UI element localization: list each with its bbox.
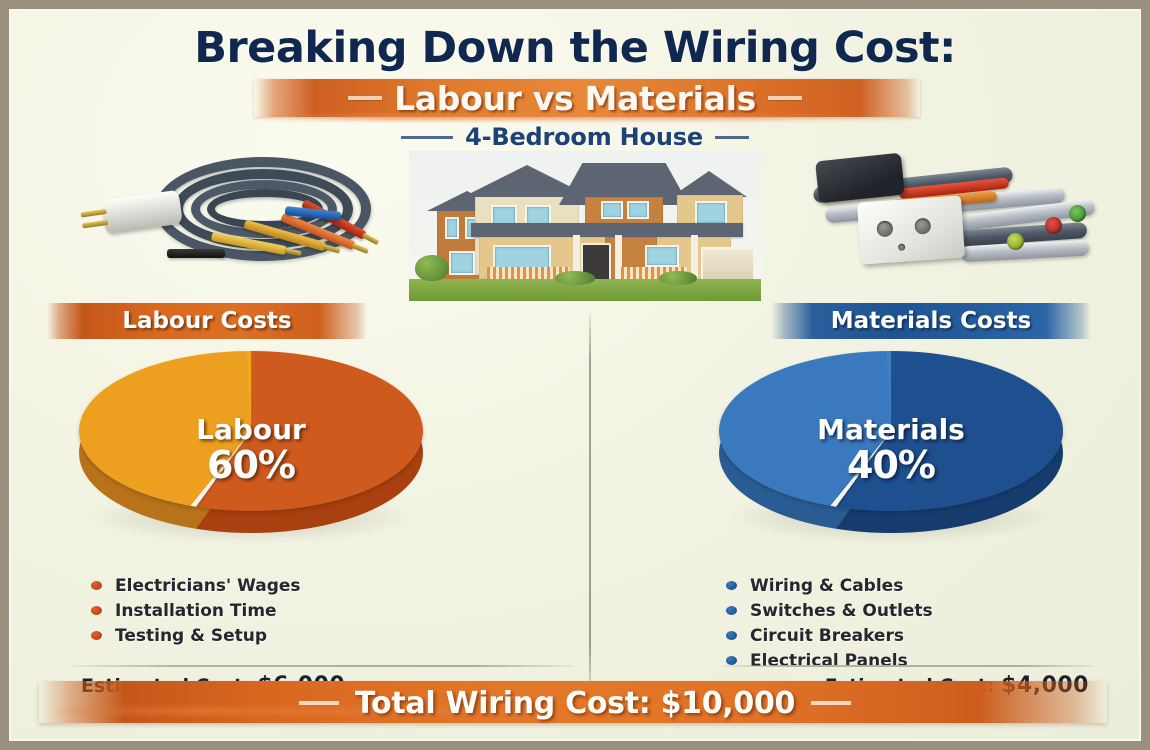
total-cost-label: Total Wiring Cost: $10,000 <box>355 686 795 721</box>
list-item: Electricians' Wages <box>91 573 301 598</box>
socket-hole-right <box>914 218 931 235</box>
list-item-label: Electrical Panels <box>750 651 908 671</box>
list-item-label: Switches & Outlets <box>750 601 933 621</box>
subtitle-row: 4-Bedroom House <box>11 123 1139 151</box>
materials-pie-name: Materials <box>711 415 1071 445</box>
materials-pie-percent: 40% <box>711 445 1071 486</box>
bullet-dot-icon <box>91 606 102 615</box>
materials-pie-chart: Materials 40% <box>711 343 1071 558</box>
house-window-center-mid-a <box>601 201 623 219</box>
house-window-right-upper <box>695 201 727 225</box>
banner-dash-left <box>348 96 382 100</box>
house-window-left-upper-a <box>445 217 459 239</box>
list-item-label: Wiring & Cables <box>750 576 903 596</box>
labour-pie-chart: Labour 60% <box>71 343 431 558</box>
bush-left <box>415 255 449 281</box>
plug-pin-lower <box>82 220 108 229</box>
list-item: Installation Time <box>91 598 301 623</box>
house-window-lower-right <box>645 245 679 267</box>
wire-tip-orange <box>351 243 369 254</box>
socket-screw <box>898 243 905 250</box>
labour-cost-rule <box>73 665 573 667</box>
labour-pie-label: Labour 60% <box>71 415 431 486</box>
title-banner-text: Labour vs Materials <box>394 79 756 118</box>
labour-section-title: Labour Costs <box>122 308 291 334</box>
list-item: Wiring & Cables <box>726 573 933 598</box>
materials-cost-list: Wiring & Cables Switches & Outlets Circu… <box>726 573 933 673</box>
bullet-dot-icon <box>726 606 737 615</box>
bullet-dot-icon <box>726 581 737 590</box>
junction-box <box>815 153 905 204</box>
list-item-label: Installation Time <box>115 601 277 621</box>
subtitle-dash-right <box>715 136 749 139</box>
pipe-cap-green-2 <box>1069 205 1086 222</box>
house-garage-door <box>701 247 755 281</box>
total-cost-bar: Total Wiring Cost: $10,000 <box>11 681 1139 725</box>
panel-divider <box>589 314 591 691</box>
bullet-dot-icon <box>91 581 102 590</box>
labour-pie-name: Labour <box>71 415 431 445</box>
bush-center <box>555 271 595 285</box>
page-title: Breaking Down the Wiring Cost: <box>11 23 1139 73</box>
electrical-components-illustration <box>811 151 1101 299</box>
house-illustration <box>409 151 761 301</box>
list-item: Electrical Panels <box>726 648 933 673</box>
wire-tip-red <box>362 233 379 245</box>
materials-section-banner: Materials Costs <box>771 303 1091 339</box>
subtitle-dash-left <box>401 136 453 139</box>
pipe-cap-green <box>1007 233 1024 250</box>
materials-cost-rule <box>723 665 1093 667</box>
title-banner: Labour vs Materials <box>11 77 1139 119</box>
labour-cost-list: Electricians' Wages Installation Time Te… <box>91 573 301 648</box>
pipe-cap-red <box>1045 217 1062 234</box>
socket-hole-left <box>876 220 893 237</box>
poster-inner-frame: Breaking Down the Wiring Cost: Labour vs… <box>9 9 1141 741</box>
materials-pie-label: Materials 40% <box>711 415 1071 486</box>
plug-pin-upper <box>80 209 106 218</box>
bullet-dot-icon <box>91 631 102 640</box>
materials-section-title: Materials Costs <box>831 308 1031 334</box>
total-dash-right <box>811 701 851 705</box>
list-item: Circuit Breakers <box>726 623 933 648</box>
subtitle: 4-Bedroom House <box>465 123 703 151</box>
list-item-label: Circuit Breakers <box>750 626 904 646</box>
total-bar-content: Total Wiring Cost: $10,000 <box>11 681 1139 725</box>
labour-section-banner: Labour Costs <box>47 303 367 339</box>
bullet-dot-icon <box>726 656 737 665</box>
wire-end-black <box>167 249 225 258</box>
house-window-left-lower <box>449 251 475 275</box>
hero-illustration-row <box>11 151 1139 303</box>
bullet-dot-icon <box>726 631 737 640</box>
bush-right <box>659 271 697 285</box>
list-item: Switches & Outlets <box>726 598 933 623</box>
banner-dash-right <box>768 96 802 100</box>
list-item-label: Testing & Setup <box>115 626 267 646</box>
house-window-center-mid-b <box>627 201 649 219</box>
total-dash-left <box>299 701 339 705</box>
list-item: Testing & Setup <box>91 623 301 648</box>
house-porch-roof <box>471 223 743 237</box>
cable-coil-illustration <box>103 153 403 283</box>
list-item-label: Electricians' Wages <box>115 576 301 596</box>
labour-pie-percent: 60% <box>71 445 431 486</box>
socket-outlet-box <box>857 195 965 264</box>
infographic-poster: Breaking Down the Wiring Cost: Labour vs… <box>0 0 1150 750</box>
